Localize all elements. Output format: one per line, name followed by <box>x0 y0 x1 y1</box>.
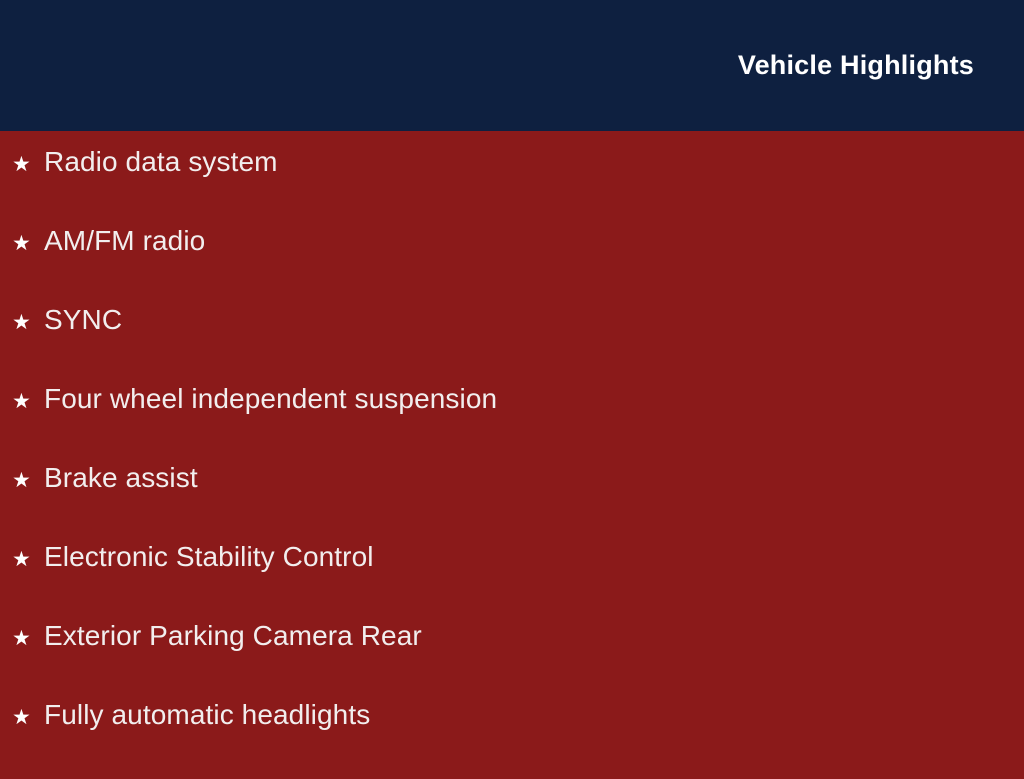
star-bullet-icon: ★ <box>12 233 44 254</box>
star-bullet-icon: ★ <box>12 707 44 728</box>
slide-body: ★ Radio data system ★ AM/FM radio ★ SYNC… <box>0 131 1024 779</box>
vehicle-highlights-list: ★ Radio data system ★ AM/FM radio ★ SYNC… <box>0 147 1024 779</box>
list-item-label: Fully automatic headlights <box>44 700 370 731</box>
list-item: ★ Fully automatic headlights <box>0 700 1024 779</box>
star-bullet-icon: ★ <box>12 470 44 491</box>
star-bullet-icon: ★ <box>12 154 44 175</box>
list-item-label: Electronic Stability Control <box>44 542 374 573</box>
list-item: ★ Four wheel independent suspension <box>0 384 1024 463</box>
star-bullet-icon: ★ <box>12 549 44 570</box>
list-item-label: AM/FM radio <box>44 226 205 257</box>
list-item: ★ AM/FM radio <box>0 226 1024 305</box>
list-item: ★ Radio data system <box>0 147 1024 226</box>
list-item: ★ Exterior Parking Camera Rear <box>0 621 1024 700</box>
list-item-label: Exterior Parking Camera Rear <box>44 621 422 652</box>
list-item-label: Radio data system <box>44 147 278 178</box>
page-title: Vehicle Highlights <box>738 51 974 81</box>
star-bullet-icon: ★ <box>12 628 44 649</box>
list-item: ★ Brake assist <box>0 463 1024 542</box>
vehicle-highlights-slide: Vehicle Highlights ★ Radio data system ★… <box>0 0 1024 768</box>
list-item: ★ Electronic Stability Control <box>0 542 1024 621</box>
star-bullet-icon: ★ <box>12 312 44 333</box>
slide-header: Vehicle Highlights <box>0 0 1024 131</box>
list-item-label: Four wheel independent suspension <box>44 384 497 415</box>
list-item-label: SYNC <box>44 305 122 336</box>
list-item-label: Brake assist <box>44 463 198 494</box>
list-item: ★ SYNC <box>0 305 1024 384</box>
star-bullet-icon: ★ <box>12 391 44 412</box>
